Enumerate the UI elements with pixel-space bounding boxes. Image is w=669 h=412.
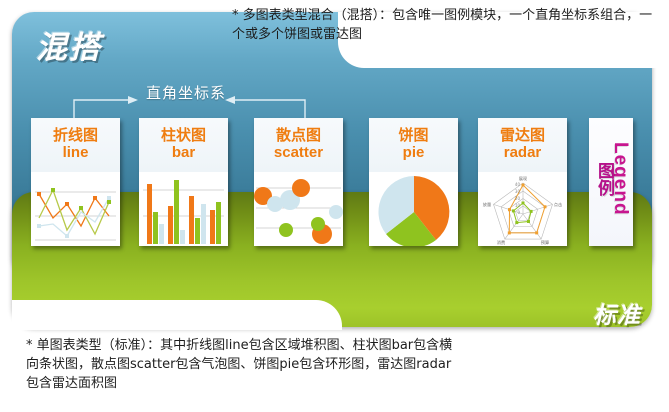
chart-card-legend[interactable]: Legend 图例 — [589, 118, 633, 246]
chart-card-pie[interactable]: 饼图 pie — [369, 118, 458, 246]
mix-panel-title: 混搭 — [36, 22, 102, 67]
chart-card-line-title-en: line — [31, 144, 120, 162]
chart-card-pie-preview — [369, 172, 458, 246]
radar-tick-2: 20 — [515, 196, 521, 201]
note-mixed-chart: * 多图表类型混合（混搭）：包含唯一图例模块，一个直角坐标系组合，一个或多个饼图… — [232, 6, 664, 44]
chart-card-scatter-preview — [254, 172, 343, 246]
chart-card-bar-preview — [139, 172, 228, 246]
chart-card-line[interactable]: 折线图 line — [31, 118, 120, 246]
radar-tick-0: 0 — [517, 210, 520, 215]
chart-card-radar-header: 雷达图 radar — [478, 118, 567, 172]
radar-tick-4: 40 — [515, 182, 521, 187]
chart-card-pie-title-cn: 饼图 — [369, 126, 458, 144]
radar-label-1: 点击 — [554, 201, 562, 208]
chart-card-bar-title-en: bar — [139, 144, 228, 162]
legend-card-title-cn: 图例 — [592, 162, 617, 196]
scatter-chart-thumbnail — [254, 172, 343, 246]
chart-card-radar-title-en: radar — [478, 144, 567, 162]
radar-label-0: 展现 — [519, 176, 527, 182]
radar-tick-labels: 40 30 20 10 0 — [515, 182, 521, 215]
line-chart-thumbnail — [31, 172, 120, 246]
radar-label-2: 预算 — [541, 239, 549, 246]
chart-card-line-title-cn: 折线图 — [31, 126, 120, 144]
chart-card-pie-title-en: pie — [369, 144, 458, 162]
radar-tick-3: 30 — [515, 189, 521, 194]
chart-card-bar-header: 柱状图 bar — [139, 118, 228, 172]
chart-card-line-preview — [31, 172, 120, 246]
chart-card-scatter[interactable]: 散点图 scatter — [254, 118, 343, 246]
chart-card-scatter-title-en: scatter — [254, 144, 343, 162]
bar-chart-thumbnail — [139, 172, 228, 246]
chart-card-radar-preview: 展现 点击 预算 消费 放量 40 30 20 10 0 — [478, 172, 567, 246]
slide-canvas: 混搭 直角坐标系 标准 折线图 line — [0, 0, 669, 412]
note-standard-chart: * 单图表类型（标准）：其中折线图line包含区域堆积图、柱状图bar包含横向条… — [26, 336, 462, 393]
chart-card-scatter-header: 散点图 scatter — [254, 118, 343, 172]
radar-label-4: 放量 — [483, 201, 491, 208]
pie-chart-thumbnail — [369, 172, 458, 246]
chart-card-bar[interactable]: 柱状图 bar — [139, 118, 228, 246]
chart-card-scatter-title-cn: 散点图 — [254, 126, 343, 144]
chart-card-radar-title-cn: 雷达图 — [478, 126, 567, 144]
chart-card-line-header: 折线图 line — [31, 118, 120, 172]
chart-card-radar[interactable]: 雷达图 radar — [478, 118, 567, 246]
radar-tick-1: 10 — [515, 203, 521, 208]
standard-panel-notch — [12, 300, 342, 330]
chart-card-bar-title-cn: 柱状图 — [139, 126, 228, 144]
cartesian-bracket-label: 直角坐标系 — [146, 82, 226, 103]
chart-card-pie-header: 饼图 pie — [369, 118, 458, 172]
radar-label-3: 消费 — [497, 239, 505, 246]
radar-chart-thumbnail: 展现 点击 预算 消费 放量 40 30 20 10 0 — [478, 172, 567, 246]
standard-panel-title: 标准 — [593, 296, 641, 330]
